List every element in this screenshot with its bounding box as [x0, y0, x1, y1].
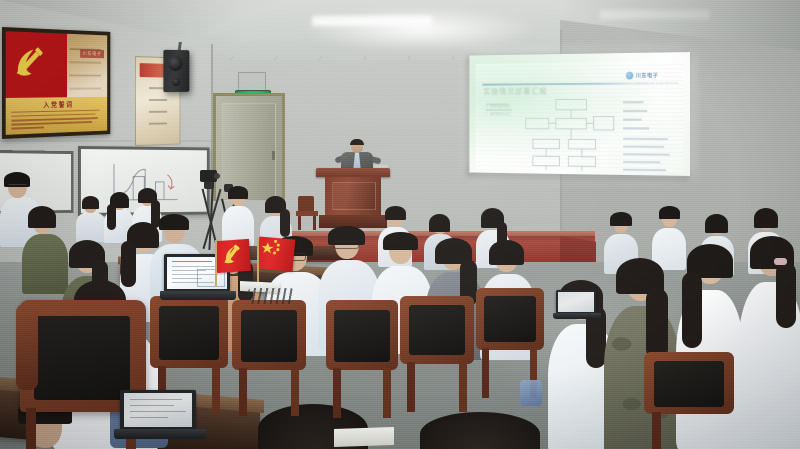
person-hair [610, 212, 632, 226]
screen-text-line [130, 405, 174, 406]
logo-text: 川东电子 [636, 73, 659, 79]
certificate-line [149, 122, 166, 124]
laptop-screen [558, 292, 594, 312]
screen-text-line [130, 399, 182, 400]
chair-leg [383, 368, 391, 418]
poster-oath-band: 入党誓词 [6, 96, 108, 135]
laptop-keyboard-base[interactable] [553, 313, 601, 319]
laptop-keyboard-base[interactable] [160, 291, 236, 300]
person-hair [228, 186, 248, 199]
audience-member [420, 412, 540, 449]
audience-chair[interactable] [326, 300, 398, 420]
door-handle[interactable] [272, 151, 275, 160]
chair-cushion [159, 306, 219, 360]
audience-chair[interactable] [644, 352, 734, 449]
laptop-screen [124, 393, 192, 427]
stage-side-chair[interactable] [296, 196, 318, 230]
water-bottle [520, 380, 542, 406]
person-hair [385, 206, 406, 220]
chair-leg [26, 408, 36, 449]
certificate-line [149, 111, 166, 113]
eyeglasses-icon [8, 184, 27, 189]
person-hair [28, 206, 56, 228]
audience-chair[interactable] [400, 296, 474, 414]
chair-leg [291, 368, 299, 416]
person-hair [383, 232, 418, 250]
chair-leg [407, 362, 415, 412]
meeting-room-photo: 川东电子 入党誓词 [0, 0, 800, 449]
screen-text-line [172, 266, 220, 267]
chair-leg [459, 362, 467, 412]
projection-screen: 川东电子 CHUANDONG ELECTRONICS 实施情况部署汇报 一、项目… [469, 52, 690, 176]
podium-top [316, 168, 390, 177]
person-hair [82, 196, 99, 209]
sign-mount-bracket [238, 72, 266, 91]
hammer-and-sickle-icon [13, 45, 47, 79]
desk-cables [248, 288, 294, 304]
audience-chair[interactable] [232, 300, 306, 418]
person-torso [76, 212, 106, 242]
person-hair [420, 412, 540, 449]
hammer-and-sickle-icon [215, 239, 251, 273]
laptop-keyboard-base[interactable] [114, 429, 206, 439]
audience-member [738, 236, 800, 449]
chair-cushion [484, 296, 536, 342]
person-ponytail [107, 204, 116, 230]
person-hair [489, 240, 524, 265]
five-stars-icon [257, 236, 296, 271]
person-hair [705, 214, 728, 233]
camera-lens-icon [214, 173, 220, 179]
presentation-slide: 川东电子 CHUANDONG ELECTRONICS 实施情况部署汇报 一、项目… [475, 61, 683, 172]
logo-mark-icon [626, 71, 634, 79]
screen-text-line [172, 261, 212, 262]
audience-member [222, 186, 254, 242]
chair-cushion [334, 310, 390, 362]
chair-cushion [34, 316, 130, 400]
podium-front-panel [332, 182, 376, 210]
screen-text-line [130, 417, 168, 418]
presenter-hair [350, 139, 364, 145]
person-hair [659, 206, 680, 219]
laptop[interactable] [120, 390, 208, 440]
chair-leg [652, 412, 661, 449]
party-flag [215, 239, 251, 273]
person-hair [159, 214, 189, 230]
chair-cushion [241, 310, 297, 362]
chair-leg [212, 366, 220, 414]
person-ponytail [280, 209, 290, 237]
poster-oath-text [11, 109, 102, 132]
podium-body [325, 177, 381, 215]
desk-papers [334, 427, 394, 447]
poster-inner: 川东电子 入党誓词 [6, 31, 108, 135]
hair-tie [774, 258, 787, 265]
person-ponytail [682, 272, 702, 348]
slide-org-chart [481, 97, 680, 172]
chair-cushion [409, 305, 465, 355]
chair-leg [333, 368, 341, 418]
eyeglasses-icon [333, 241, 359, 249]
wall-speaker [163, 50, 189, 92]
poster-corner-tag: 川东电子 [80, 49, 104, 58]
screen-text-line [130, 411, 186, 412]
audience-member [76, 196, 106, 240]
chair-armrest [16, 304, 38, 390]
flag-pole [257, 238, 259, 282]
person-ponytail [776, 262, 796, 328]
certificate-line [149, 99, 166, 100]
flag-pole [215, 240, 217, 286]
chair-leg [482, 348, 489, 398]
chair-cushion [654, 361, 724, 407]
person-hair [754, 208, 778, 228]
national-flag [257, 236, 296, 271]
chair-leg [298, 216, 301, 230]
person-hair [429, 214, 450, 232]
laptop[interactable] [556, 290, 602, 320]
chair-leg [239, 368, 247, 416]
slide-title: 实施情况部署汇报 [483, 86, 547, 97]
party-oath-poster: 川东电子 入党誓词 [2, 27, 110, 139]
chair-back [298, 196, 314, 212]
